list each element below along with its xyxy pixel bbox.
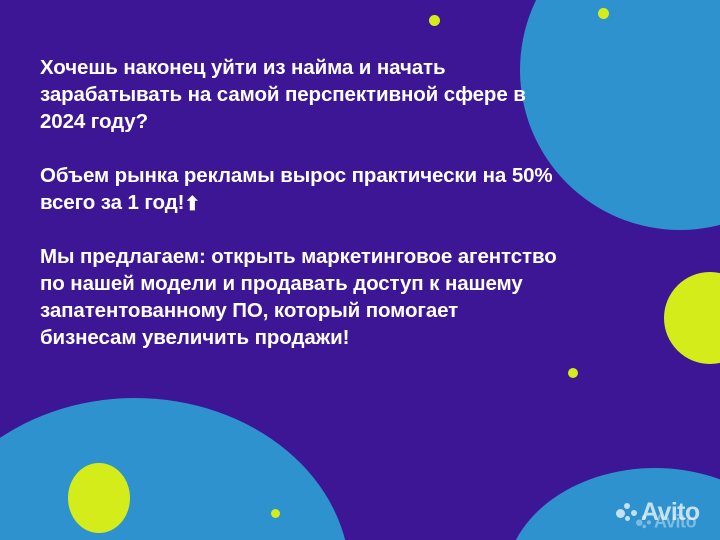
avito-dots-icon <box>616 502 638 524</box>
yellow-circle-right-decoration <box>664 272 720 364</box>
promo-paragraph-3: Мы предлагаем: открыть маркетинговое аге… <box>40 243 560 351</box>
yellow-dot-top-center-decoration <box>429 15 440 26</box>
avito-dots-icon <box>636 514 652 530</box>
avito-wordmark-ghost: Avito <box>654 513 696 531</box>
avito-wordmark: Avito <box>641 500 700 525</box>
blue-circle-bottom-right-decoration <box>505 468 720 540</box>
promo-paragraph-2: Объем рынка рекламы вырос практически на… <box>40 162 560 216</box>
arrow-up-icon: ⬆ <box>184 195 200 214</box>
promo-paragraph-2-text: Объем рынка рекламы вырос практически на… <box>40 164 553 214</box>
blue-circle-bottom-left-decoration <box>0 398 350 540</box>
avito-watermark: Avito <box>616 500 700 525</box>
yellow-dot-bottom-left-decoration <box>271 509 280 518</box>
avito-watermark-ghost: Avito <box>636 513 696 531</box>
slide-canvas: Хочешь наконец уйти из найма и начать за… <box>0 0 720 540</box>
promo-paragraph-1: Хочешь наконец уйти из найма и начать за… <box>40 54 560 135</box>
promo-text-block: Хочешь наконец уйти из найма и начать за… <box>40 54 560 351</box>
yellow-dot-mid-right-decoration <box>568 368 578 378</box>
yellow-ellipse-bottom-left-decoration <box>68 463 130 533</box>
yellow-dot-top-right-decoration <box>598 8 609 19</box>
